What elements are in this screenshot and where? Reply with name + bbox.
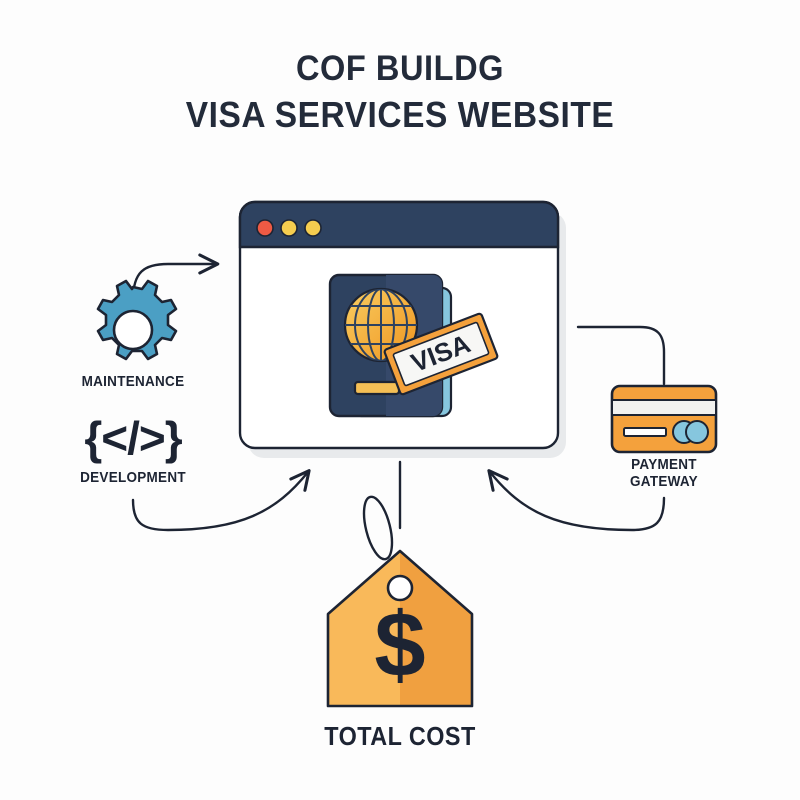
total-cost-node[interactable]: $ xyxy=(0,0,800,800)
dollar-symbol: $ xyxy=(374,594,425,696)
total-cost-label: TOTAL COST xyxy=(310,722,490,751)
tag-string xyxy=(359,494,398,562)
infographic-canvas: COF BUILDG VISA SERVICES WEBSITE xyxy=(0,0,800,800)
